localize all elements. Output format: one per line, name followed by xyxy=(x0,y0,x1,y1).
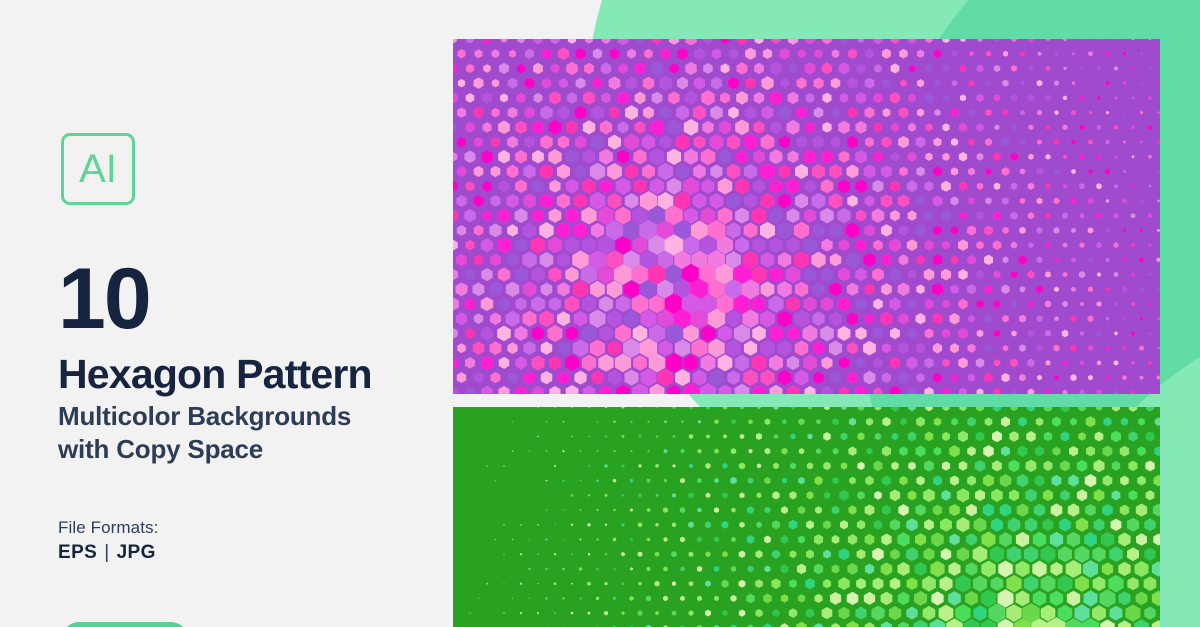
file-formats-value: EPS|JPG xyxy=(58,542,156,564)
subtitle-line-2: with Copy Space xyxy=(58,433,351,466)
format-separator: | xyxy=(97,542,116,563)
poster-canvas: AI 10 Hexagon Pattern Multicolor Backgro… xyxy=(0,0,1200,627)
format-eps: EPS xyxy=(58,542,97,563)
cta-button[interactable] xyxy=(62,622,188,627)
page-title: Hexagon Pattern xyxy=(58,354,372,395)
hexagon-halftone-field xyxy=(453,39,1160,394)
hexagon-halftone-field xyxy=(453,407,1160,627)
purple-hexagon-preview[interactable] xyxy=(453,39,1160,394)
green-hexagon-preview[interactable] xyxy=(453,407,1160,627)
file-formats-label: File Formats: xyxy=(58,518,158,538)
badge-label: AI xyxy=(79,149,117,189)
subtitle-line-1: Multicolor Backgrounds xyxy=(58,400,351,433)
format-jpg: JPG xyxy=(117,542,156,563)
item-count: 10 xyxy=(58,256,150,342)
info-panel: AI 10 Hexagon Pattern Multicolor Backgro… xyxy=(0,0,453,627)
page-subtitle: Multicolor Backgrounds with Copy Space xyxy=(58,400,351,465)
adobe-illustrator-badge-icon: AI xyxy=(61,133,135,205)
